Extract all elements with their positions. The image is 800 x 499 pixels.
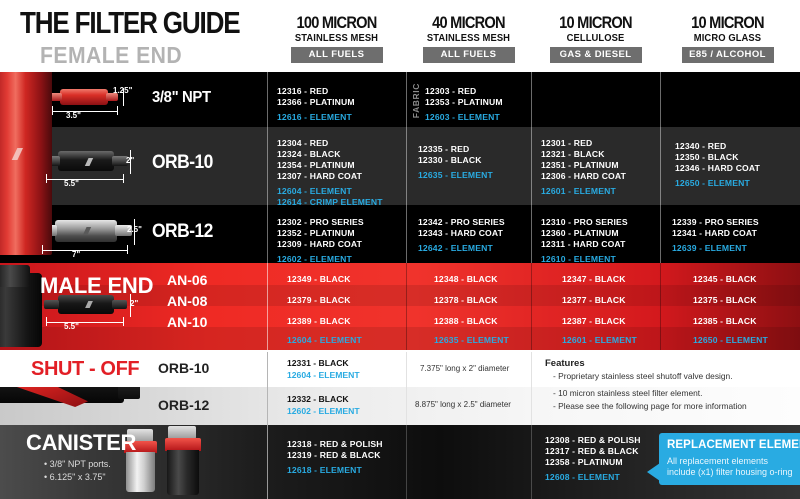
column-header-main: 40 MICRON — [415, 14, 523, 31]
filter-guide-sheet: THE FILTER GUIDE FEMALE END 100 MICRON S… — [0, 0, 800, 499]
cell-canister-10micron-cellulose: 12308 - RED & POLISH 12317 - RED & BLACK… — [545, 435, 641, 483]
replacement-elements-line-2: include (x1) filter housing o-ring — [667, 467, 793, 477]
dim-diameter-3-8-npt: 1.25" — [113, 86, 132, 95]
cell-100micron-an-10: 12389 - BLACK — [287, 316, 351, 327]
section-male-end: 5.5" 2" MALE END AN-06 AN-08 AN-10 12349… — [0, 263, 800, 350]
dim-note-shutoff-orb-10: 7.375" long x 2" diameter — [420, 364, 509, 373]
product-photo-canister-black-body — [167, 450, 199, 495]
row-label-an-08: AN-08 — [167, 293, 207, 309]
page-header: THE FILTER GUIDE FEMALE END 100 MICRON S… — [0, 0, 800, 72]
section-subtitle-female-end: FEMALE END — [40, 42, 182, 69]
product-photo-an-filter-port-left — [44, 300, 59, 309]
cell-10micron-microglass-orb-10: 12340 - RED 12350 - BLACK 12346 - HARD C… — [675, 141, 760, 189]
cell-10micron-microglass-an-element: 12650 - ELEMENT — [693, 335, 768, 346]
column-header-40-micron: 40 MICRON STAINLESS MESH ALL FUELS — [406, 14, 531, 63]
cell-40micron-orb-10: 12335 - RED 12330 - BLACK 12635 - ELEMEN… — [418, 144, 493, 181]
column-header-10-micron-cellulose: 10 MICRON CELLULOSE GAS & DIESEL — [531, 14, 660, 63]
product-photo-shutoff-valve-nose — [118, 387, 140, 399]
column-header-100-micron: 100 MICRON STAINLESS MESH ALL FUELS — [267, 14, 406, 63]
column-header-sub: MICRO GLASS — [664, 33, 791, 44]
cell-10micron-cellulose-orb-12: 12310 - PRO SERIES 12360 - PLATINUM 1231… — [541, 217, 628, 263]
cell-10micron-microglass-an-10: 12385 - BLACK — [693, 316, 757, 327]
cell-10micron-cellulose-an-element: 12601 - ELEMENT — [562, 335, 637, 346]
row-label-orb-12: ORB-12 — [152, 221, 213, 243]
canister-bullet-1: • 3/8" NPT ports. — [44, 459, 111, 469]
cell-100micron-3-8-npt: 12316 - RED 12366 - PLATINUM 12616 - ELE… — [277, 86, 355, 123]
product-photo-female-end-logo — [5, 148, 31, 160]
product-photo-canister-polish-body — [126, 452, 155, 492]
cell-shutoff-orb-10-part: 12331 - BLACK 12604 - ELEMENT — [287, 358, 360, 381]
cell-100micron-an-06: 12349 - BLACK — [287, 274, 351, 285]
section-title-shut-off: SHUT - OFF — [31, 358, 139, 381]
column-header-sub: STAINLESS MESH — [271, 33, 402, 44]
cell-40micron-an-element: 12635 - ELEMENT — [434, 335, 509, 346]
replacement-elements-line-1: All replacement elements — [667, 456, 768, 466]
section-title-male-end: MALE END — [40, 273, 153, 299]
cell-10micron-microglass-orb-12: 12339 - PRO SERIES 12341 - HARD COAT 126… — [672, 217, 759, 254]
row-label-orb-10: ORB-10 — [152, 152, 213, 174]
product-photo-an-filter-logo — [78, 301, 100, 308]
features-line-3: - Please see the following page for more… — [553, 401, 747, 411]
section-shut-off-row-orb-10: SHUT - OFF ORB-10 12331 - BLACK 12604 - … — [0, 352, 800, 387]
cell-canister-100micron: 12318 - RED & POLISH 12319 - RED & BLACK… — [287, 439, 383, 476]
replacement-elements-title: REPLACEMENT ELEMENTS — [667, 439, 800, 451]
cell-10micron-microglass-an-06: 12345 - BLACK — [693, 274, 757, 285]
column-header-sub: STAINLESS MESH — [410, 33, 528, 44]
cell-100micron-an-element: 12604 - ELEMENT — [287, 335, 362, 346]
column-header-main: 10 MICRON — [540, 14, 651, 31]
cell-10micron-cellulose-an-06: 12347 - BLACK — [562, 274, 626, 285]
column-header-badge: GAS & DIESEL — [550, 47, 642, 63]
canister-bullet-2: • 6.125" x 3.75" — [44, 472, 106, 482]
row-3-8-npt: 3.5" 1.25" 3/8" NPT FABRIC 12316 - RED 1… — [0, 72, 800, 127]
product-photo-orb-10-logo — [78, 158, 100, 166]
product-photo-3-8-npt — [60, 89, 108, 105]
dim-diameter-male-end: 2" — [130, 299, 138, 308]
product-photo-orb-12-logo — [76, 227, 98, 235]
fabric-tag: FABRIC — [411, 83, 421, 118]
product-photo-an-filter-port-right — [112, 300, 127, 309]
cell-40micron-an-08: 12378 - BLACK — [434, 295, 498, 306]
features-line-1: - Proprietary stainless steel shutoff va… — [553, 371, 733, 381]
cell-10micron-microglass-an-08: 12375 - BLACK — [693, 295, 757, 306]
cell-40micron-an-10: 12388 - BLACK — [434, 316, 498, 327]
dim-length-orb-10: 5.5" — [64, 179, 79, 188]
section-shut-off-row-orb-12: ORB-12 12332 - BLACK 12602 - ELEMENT 8.8… — [0, 387, 800, 425]
dim-length-3-8-npt: 3.5" — [66, 111, 81, 120]
guide-table-body: 3.5" 1.25" 3/8" NPT FABRIC 12316 - RED 1… — [0, 72, 800, 499]
cell-10micron-cellulose-orb-10: 12301 - RED 12321 - BLACK 12351 - PLATIN… — [541, 138, 626, 197]
column-header-badge: ALL FUELS — [291, 47, 383, 63]
row-label-3-8-npt: 3/8" NPT — [152, 89, 211, 107]
column-header-main: 10 MICRON — [669, 14, 785, 31]
section-title-canister: CANISTER — [26, 430, 136, 456]
cell-40micron-an-06: 12348 - BLACK — [434, 274, 498, 285]
row-orb-10: 5.5" 2" ORB-10 12304 - RED 12324 - BLACK… — [0, 127, 800, 205]
cell-100micron-an-08: 12379 - BLACK — [287, 295, 351, 306]
row-label-an-06: AN-06 — [167, 272, 207, 288]
cell-10micron-cellulose-an-10: 12387 - BLACK — [562, 316, 626, 327]
dim-diameter-orb-10: 2" — [126, 156, 134, 165]
row-label-shutoff-orb-12: ORB-12 — [158, 397, 209, 413]
row-label-shutoff-orb-10: ORB-10 — [158, 360, 209, 376]
dim-length-male-end: 5.5" — [64, 322, 79, 331]
column-header-10-micron-micro-glass: 10 MICRON MICRO GLASS E85 / ALCOHOL — [660, 14, 795, 63]
cell-40micron-orb-12: 12342 - PRO SERIES 12343 - HARD COAT 126… — [418, 217, 505, 254]
features-line-2: - 10 micron stainless steel filter eleme… — [553, 388, 702, 398]
row-orb-12: 7" 2.5" ORB-12 12302 - PRO SERIES 12352 … — [0, 205, 800, 263]
row-label-an-10: AN-10 — [167, 314, 207, 330]
features-title: Features — [545, 358, 585, 369]
column-header-badge: ALL FUELS — [423, 47, 515, 63]
cell-100micron-orb-12: 12302 - PRO SERIES 12352 - PLATINUM 1230… — [277, 217, 364, 263]
page-title: THE FILTER GUIDE — [20, 5, 239, 41]
dim-note-shutoff-orb-12: 8.875" long x 2.5" diameter — [415, 400, 511, 409]
dim-diameter-orb-12: 2.5" — [127, 225, 142, 234]
cell-40micron-3-8-npt: 12303 - RED 12353 - PLATINUM 12603 - ELE… — [425, 86, 503, 123]
section-canister: CANISTER • 3/8" NPT ports. • 6.125" x 3.… — [0, 425, 800, 499]
cell-10micron-cellulose-an-08: 12377 - BLACK — [562, 295, 626, 306]
cell-100micron-orb-10: 12304 - RED 12324 - BLACK 12354 - PLATIN… — [277, 138, 383, 205]
cell-shutoff-orb-12-part: 12332 - BLACK 12602 - ELEMENT — [287, 394, 360, 417]
column-header-badge: E85 / ALCOHOL — [682, 47, 774, 63]
column-header-main: 100 MICRON — [277, 14, 397, 31]
column-header-sub: CELLULOSE — [535, 33, 656, 44]
dim-length-orb-12: 7" — [72, 250, 80, 259]
product-photo-male-end-hex — [0, 265, 30, 287]
